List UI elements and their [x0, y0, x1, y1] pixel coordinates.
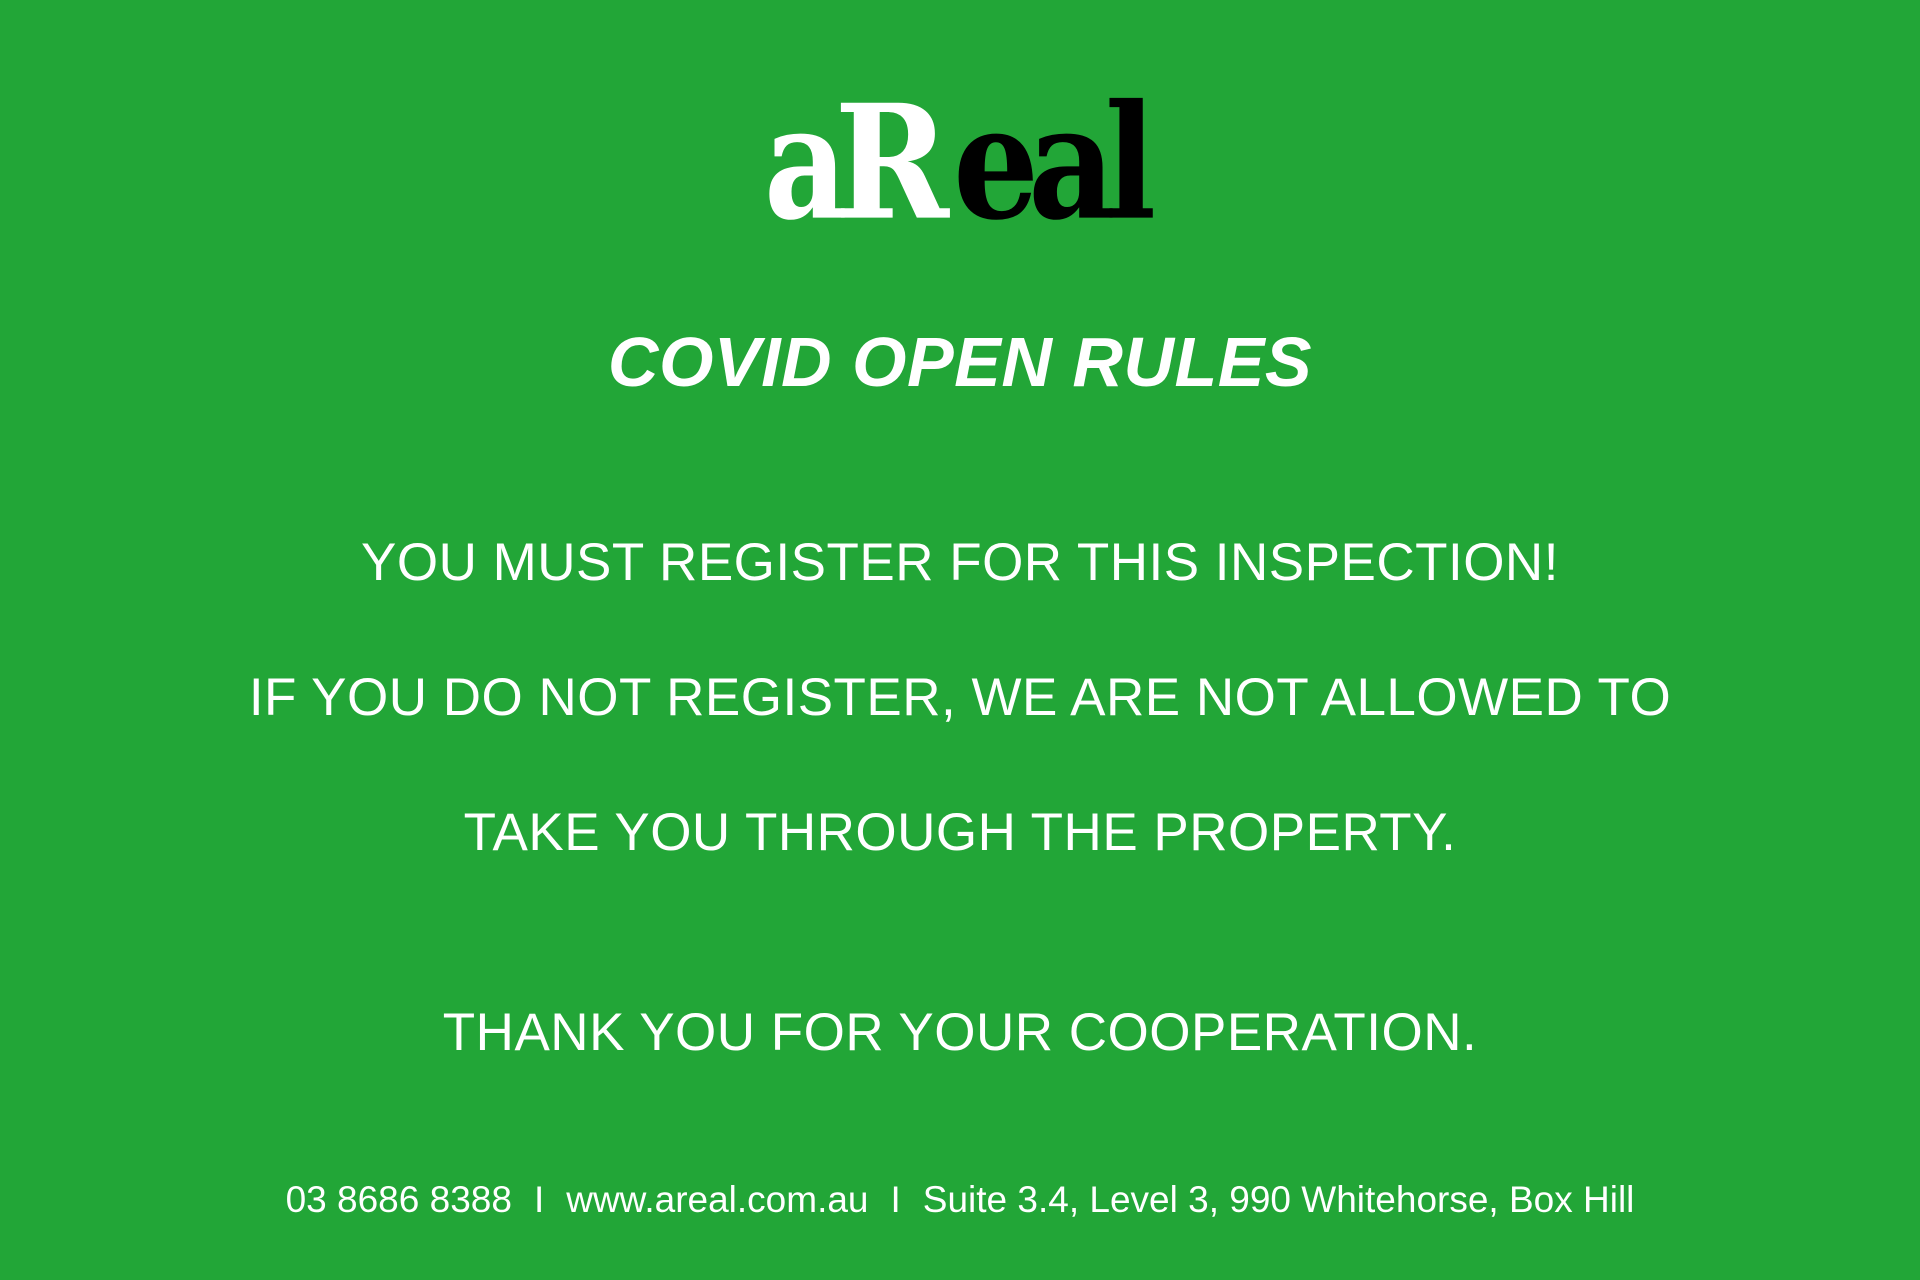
footer-website[interactable]: www.areal.com.au: [566, 1177, 868, 1223]
message-body: YOU MUST REGISTER FOR THIS INSPECTION! I…: [0, 495, 1920, 1100]
areal-wordmark: aReal: [751, 84, 1168, 243]
covid-open-rules-poster: aReal COVID OPEN RULES YOU MUST REGISTER…: [0, 0, 1920, 1280]
footer-phone: 03 8686 8388: [286, 1177, 512, 1223]
brand-logo: aReal: [0, 78, 1920, 248]
logo-letters-eal: eal: [953, 84, 1145, 242]
body-closing-line: THANK YOU FOR YOUR COOPERATION.: [0, 965, 1920, 1100]
body-line-1: YOU MUST REGISTER FOR THIS INSPECTION!: [0, 495, 1920, 630]
body-line-3: TAKE YOU THROUGH THE PROPERTY.: [0, 765, 1920, 900]
logo-letter-r: R: [835, 84, 941, 242]
footer-separator-1: I: [512, 1177, 566, 1223]
footer-separator-2: I: [869, 1177, 923, 1223]
body-line-2: IF YOU DO NOT REGISTER, WE ARE NOT ALLOW…: [0, 630, 1920, 765]
logo-letter-a: a: [764, 84, 840, 242]
contact-footer: 03 8686 8388Iwww.areal.com.auISuite 3.4,…: [0, 1177, 1920, 1223]
footer-address: Suite 3.4, Level 3, 990 Whitehorse, Box …: [923, 1177, 1635, 1223]
page-title: COVID OPEN RULES: [0, 322, 1920, 402]
